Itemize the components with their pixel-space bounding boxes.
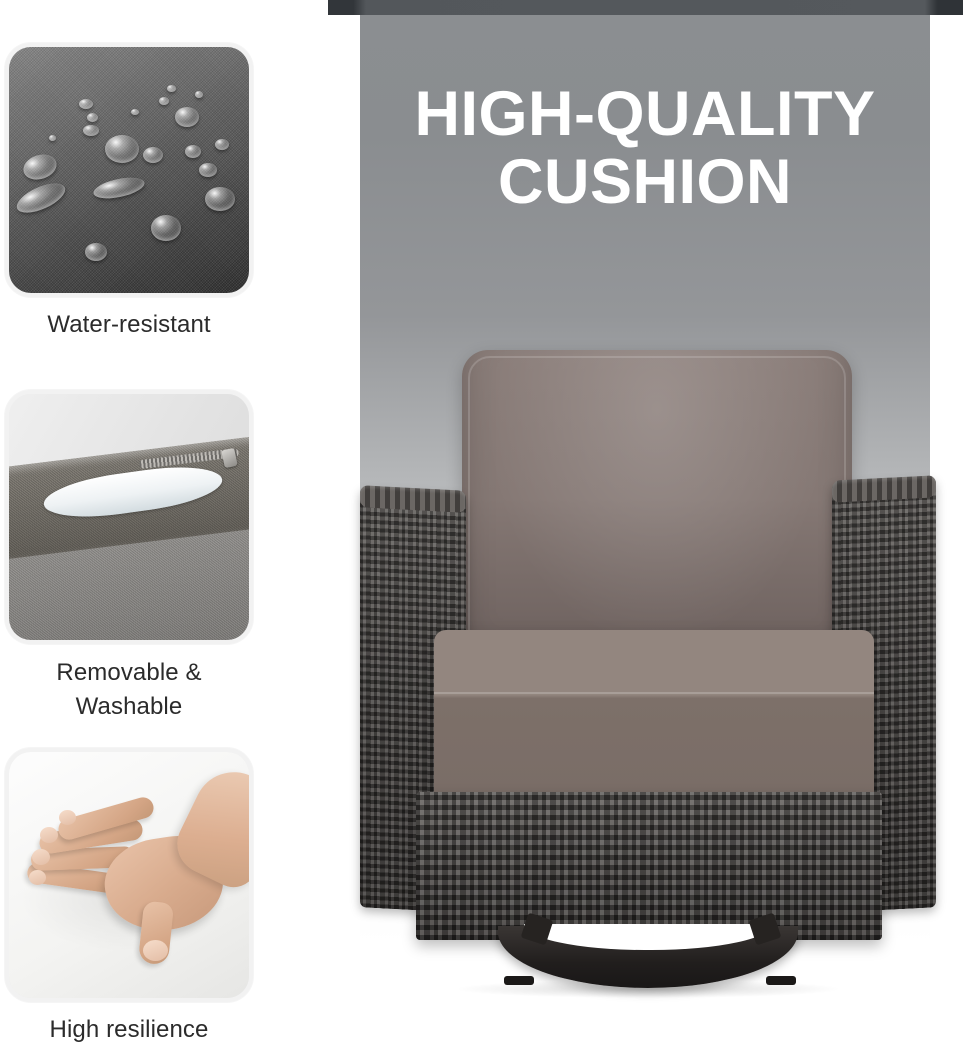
memory-foam-art (9, 752, 249, 998)
top-accent-bar (328, 0, 963, 15)
nail-ring (32, 849, 50, 865)
page-title: HIGH-QUALITY CUSHION (360, 80, 930, 216)
title-line-1: HIGH-QUALITY (360, 80, 930, 148)
feature-caption: Removable & Washable (5, 656, 253, 724)
water-droplets-thumbnail[interactable] (5, 43, 253, 297)
swivel-foot-left (504, 976, 534, 985)
product-feature-banner: Water-resistant Removable & Washable (0, 0, 963, 1024)
product-image-swivel-chair (338, 330, 958, 1024)
title-line-2: CUSHION (360, 148, 930, 216)
feature-thumbnail-column: Water-resistant Removable & Washable (0, 0, 258, 1024)
feature-water-resistant[interactable]: Water-resistant (5, 43, 253, 341)
hand-on-foam-thumbnail[interactable] (5, 748, 253, 1002)
wicker-base (416, 792, 882, 940)
feature-caption-line1: Removable & (5, 656, 253, 690)
nail-index (59, 810, 76, 825)
zippered-cushion-thumbnail[interactable] (5, 390, 253, 644)
cushion-cover-art (9, 394, 249, 640)
feature-high-resilience[interactable]: High resilience (5, 748, 253, 1046)
fabric-texture (9, 47, 249, 293)
feature-caption-line2: Washable (5, 690, 253, 724)
nail-middle (40, 827, 58, 843)
feature-removable-washable[interactable]: Removable & Washable (5, 390, 253, 724)
nail-pinky (29, 870, 46, 885)
nail-thumb (143, 940, 168, 961)
feature-caption: Water-resistant (5, 309, 253, 341)
feature-caption: High resilience (5, 1014, 253, 1046)
swivel-foot-right (766, 976, 796, 985)
